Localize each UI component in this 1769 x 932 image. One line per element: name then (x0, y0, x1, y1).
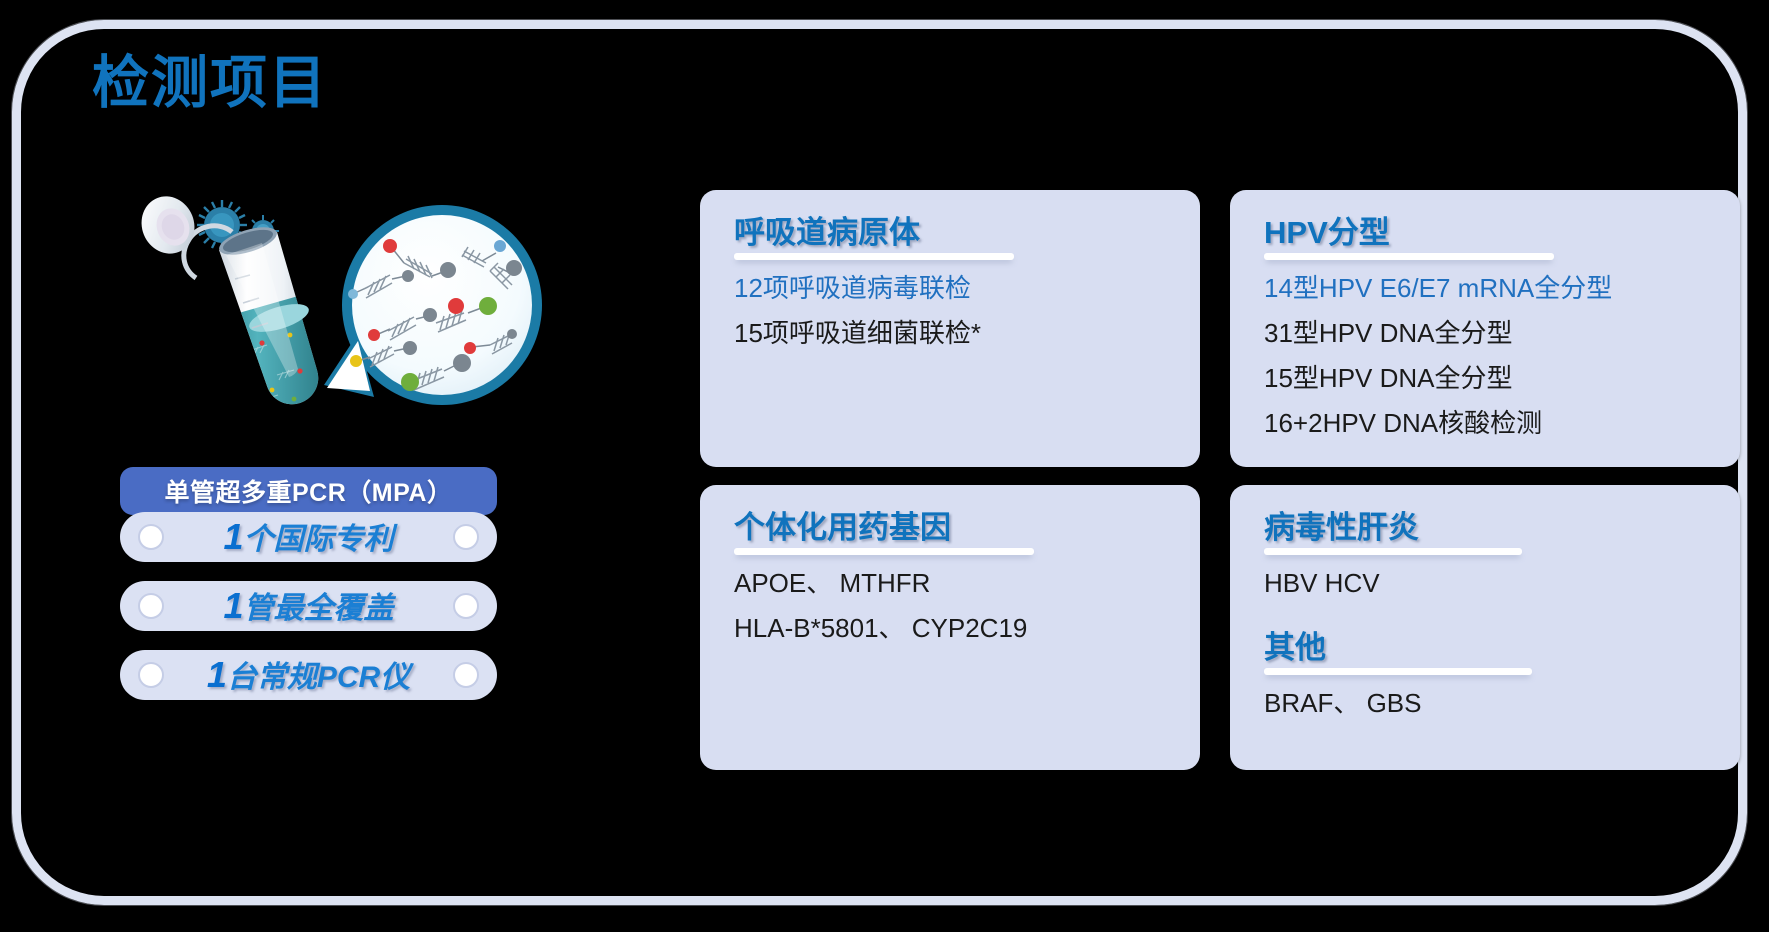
subtitle-underline (1264, 668, 1532, 675)
pill-dot-right-icon (453, 524, 479, 550)
pill-dot-left-icon (138, 593, 164, 619)
card-hepatitis[interactable]: 病毒性肝炎 HBV HCV 其他 BRAF、 GBS (1230, 485, 1740, 770)
card-hpv[interactable]: HPV分型 14型HPV E6/E7 mRNA全分型 31型HPV DNA全分型… (1230, 190, 1740, 467)
feature-number: 1 (223, 585, 243, 626)
category-card-grid: 呼吸道病原体 12项呼吸道病毒联检 15项呼吸道细菌联检* HPV分型 14型H… (700, 190, 1700, 800)
feature-text: 台常规PCR仪 (227, 661, 410, 694)
poster-root: 检测项目 (0, 0, 1769, 932)
feature-number: 1 (207, 654, 227, 695)
dna-magnifier-bubble (324, 205, 542, 405)
card-item: HBV HCV (1264, 569, 1706, 597)
title-underline (1264, 548, 1522, 555)
card-item: 14型HPV E6/E7 mRNA全分型 (1264, 274, 1706, 302)
card-item: 12项呼吸道病毒联检 (734, 274, 1166, 302)
feature-pill-label: 1台常规PCR仪 (164, 657, 453, 693)
card-item: APOE、 MTHFR (734, 569, 1166, 597)
card-title: 呼吸道病原体 (734, 216, 920, 251)
title-underline (734, 253, 1014, 260)
feature-number: 1 (223, 516, 243, 557)
card-item: 15项呼吸道细菌联检* (734, 319, 1166, 347)
card-item: 16+2HPV DNA核酸检测 (1264, 409, 1706, 437)
feature-text: 管最全覆盖 (244, 592, 394, 625)
pill-dot-left-icon (138, 662, 164, 688)
card-respiratory[interactable]: 呼吸道病原体 12项呼吸道病毒联检 15项呼吸道细菌联检* (700, 190, 1200, 467)
mpa-badge: 单管超多重PCR（MPA） (120, 467, 497, 515)
feature-text: 个国际专利 (244, 523, 394, 556)
pill-dot-left-icon (138, 524, 164, 550)
card-item: 31型HPV DNA全分型 (1264, 319, 1706, 347)
feature-pill-label: 1管最全覆盖 (164, 588, 453, 624)
card-title: 个体化用药基因 (734, 511, 951, 546)
illustration (112, 185, 542, 445)
card-pharmacogenomics[interactable]: 个体化用药基因 APOE、 MTHFR HLA-B*5801、 CYP2C19 (700, 485, 1200, 770)
card-subsection-other: 其他 BRAF、 GBS (1264, 631, 1706, 717)
feature-pill-label: 1个国际专利 (164, 519, 453, 555)
card-item: 15型HPV DNA全分型 (1264, 364, 1706, 392)
card-item: BRAF、 GBS (1264, 689, 1706, 717)
pill-dot-right-icon (453, 662, 479, 688)
page-title: 检测项目 (92, 55, 328, 112)
pill-dot-right-icon (453, 593, 479, 619)
feature-pill-instrument[interactable]: 1台常规PCR仪 (120, 650, 497, 700)
card-subtitle: 其他 (1264, 631, 1326, 666)
title-underline (1264, 253, 1554, 260)
title-underline (734, 548, 1034, 555)
card-title: 病毒性肝炎 (1264, 511, 1419, 546)
sample-tube (207, 222, 352, 435)
feature-pill-coverage[interactable]: 1管最全覆盖 (120, 581, 497, 631)
card-title: HPV分型 (1264, 216, 1390, 251)
feature-pill-patent[interactable]: 1个国际专利 (120, 512, 497, 562)
card-item: HLA-B*5801、 CYP2C19 (734, 614, 1166, 642)
